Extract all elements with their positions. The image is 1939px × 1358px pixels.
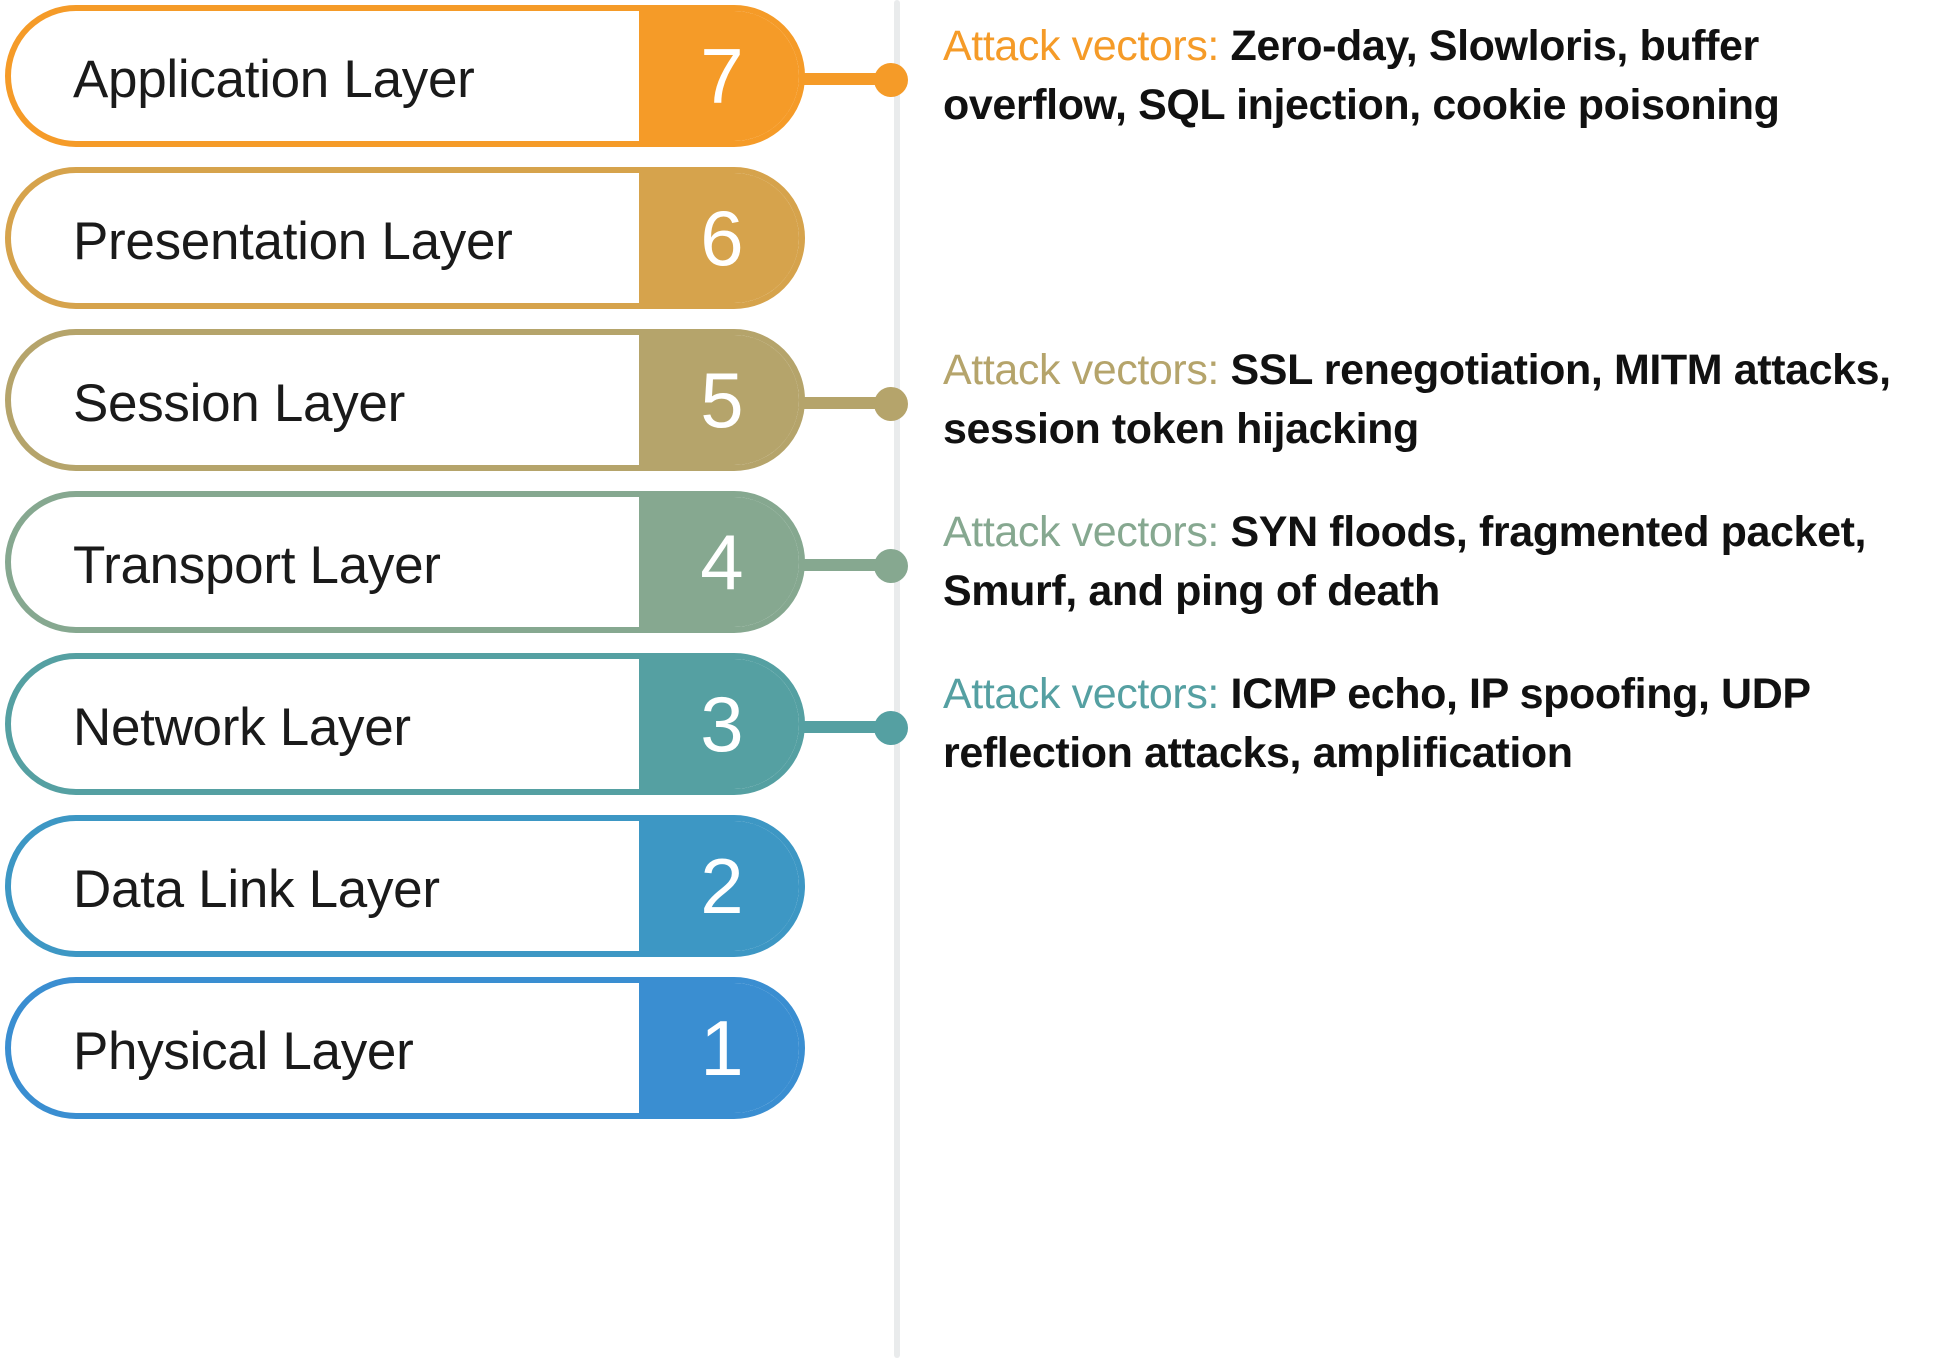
layer-label: Application Layer xyxy=(73,11,474,147)
layer-row-data-link-layer: Data Link Layer2 xyxy=(0,815,1939,957)
pill-network-layer[interactable]: Network Layer3 xyxy=(5,653,805,795)
attack-vectors-label: Attack vectors: xyxy=(943,508,1219,556)
pill-session-layer[interactable]: Session Layer5 xyxy=(5,329,805,471)
pill-presentation-layer[interactable]: Presentation Layer6 xyxy=(5,167,805,309)
pill-data-link-layer[interactable]: Data Link Layer2 xyxy=(5,815,805,957)
connector-session-layer xyxy=(802,393,902,407)
layer-number-badge: 1 xyxy=(639,977,805,1119)
connector-dot xyxy=(874,549,908,583)
pill-physical-layer[interactable]: Physical Layer1 xyxy=(5,977,805,1119)
layer-row-network-layer: Network Layer3Attack vectors: ICMP echo,… xyxy=(0,653,1939,795)
layer-label: Data Link Layer xyxy=(73,821,440,957)
layer-row-presentation-layer: Presentation Layer6 xyxy=(0,167,1939,309)
attack-vectors-label: Attack vectors: xyxy=(943,346,1219,394)
attack-vectors-note-network-layer: Attack vectors: ICMP echo, IP spoofing, … xyxy=(943,665,1939,783)
layer-number-badge: 4 xyxy=(639,491,805,633)
attack-vectors-label: Attack vectors: xyxy=(943,22,1219,70)
attack-vectors-note-transport-layer: Attack vectors: SYN floods, fragmented p… xyxy=(943,503,1939,621)
layer-number-badge: 7 xyxy=(639,5,805,147)
connector-dot xyxy=(874,711,908,745)
attack-vectors-note-session-layer: Attack vectors: SSL renegotiation, MITM … xyxy=(943,341,1939,459)
pill-application-layer[interactable]: Application Layer7 xyxy=(5,5,805,147)
connector-network-layer xyxy=(802,717,902,731)
layer-label: Transport Layer xyxy=(73,497,441,633)
connector-transport-layer xyxy=(802,555,902,569)
layer-row-session-layer: Session Layer5Attack vectors: SSL renego… xyxy=(0,329,1939,471)
layer-number-badge: 6 xyxy=(639,167,805,309)
connector-application-layer xyxy=(802,69,902,83)
layer-label: Presentation Layer xyxy=(73,173,513,309)
attack-vectors-note-application-layer: Attack vectors: Zero-day, Slowloris, buf… xyxy=(943,17,1939,135)
connector-dot xyxy=(874,387,908,421)
layer-label: Session Layer xyxy=(73,335,405,471)
layer-number-badge: 3 xyxy=(639,653,805,795)
attack-vectors-label: Attack vectors: xyxy=(943,670,1219,718)
layer-number-badge: 5 xyxy=(639,329,805,471)
layer-row-physical-layer: Physical Layer1 xyxy=(0,977,1939,1119)
layer-label: Network Layer xyxy=(73,659,411,795)
layer-number-badge: 2 xyxy=(639,815,805,957)
osi-layer-diagram: Application Layer7Attack vectors: Zero-d… xyxy=(0,0,1939,1358)
layer-label: Physical Layer xyxy=(73,983,413,1119)
layer-row-transport-layer: Transport Layer4Attack vectors: SYN floo… xyxy=(0,491,1939,633)
layer-row-application-layer: Application Layer7Attack vectors: Zero-d… xyxy=(0,5,1939,147)
pill-transport-layer[interactable]: Transport Layer4 xyxy=(5,491,805,633)
connector-dot xyxy=(874,63,908,97)
